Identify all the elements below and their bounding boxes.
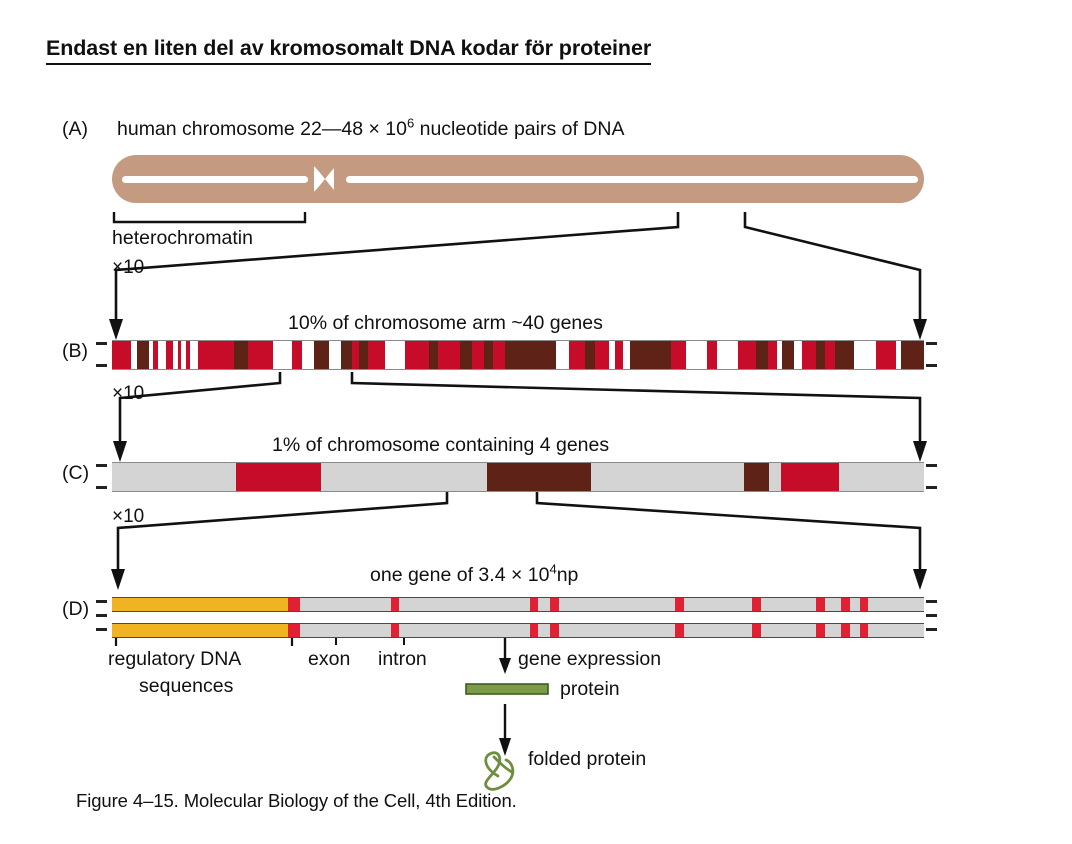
chromatid-split-right [346, 176, 918, 183]
gene-segment [850, 624, 860, 637]
gene-segment [850, 598, 860, 611]
panel-c-title: 1% of chromosome containing 4 genes [272, 434, 609, 456]
gene-segment [675, 598, 684, 611]
gene-block [744, 463, 768, 491]
chromosome-band [707, 341, 717, 369]
panel-b-edge-dash-right-top [926, 342, 937, 345]
chromosome-band [825, 341, 835, 369]
chromosome-band [484, 341, 493, 369]
panel-c-edge-dash-bottom [96, 486, 107, 489]
gene-segment [112, 624, 288, 637]
page-title: Endast en liten del av kromosomalt DNA k… [46, 36, 651, 65]
panel-d-edge-dash-2 [96, 614, 107, 617]
panel-d-letter: (D) [62, 598, 89, 620]
panel-a-title-main: human chromosome 22—48 × 10 [117, 118, 407, 140]
gene-block [321, 463, 487, 491]
panel-d-title: one gene of 3.4 × 104np [370, 564, 578, 586]
chromosome-band [717, 341, 737, 369]
chromosome-band [234, 341, 248, 369]
gene-segment [399, 624, 530, 637]
panel-c-letter: (C) [62, 462, 89, 484]
chromosome-band [405, 341, 429, 369]
chromosome-band [190, 341, 198, 369]
chromosome-band [686, 341, 706, 369]
gene-segment [399, 598, 530, 611]
gene-segment [538, 598, 550, 611]
chromosome-band [341, 341, 352, 369]
chromosome-band [569, 341, 584, 369]
gene-segment [860, 598, 869, 611]
heterochromatin-bracket [114, 212, 305, 222]
gene-segment [816, 598, 825, 611]
chromosome-band [198, 341, 234, 369]
heterochromatin-label: heterochromatin [112, 227, 253, 249]
panel-c-edge-dash-right-top [926, 464, 937, 467]
protein-bar [466, 684, 548, 694]
gene-segment [391, 624, 399, 637]
arrowhead-b-right [913, 319, 927, 340]
gene-segment [860, 624, 869, 637]
chromosome-band [623, 341, 630, 369]
chromosome-band [385, 341, 405, 369]
panel-d-edge-dash-1 [96, 600, 107, 603]
gene-segment [816, 624, 825, 637]
panel-c-edge-dash-right-bottom [926, 486, 937, 489]
gene-segment [752, 598, 761, 611]
gene-segment [300, 624, 391, 637]
gene-segment [559, 624, 676, 637]
folded-protein-icon [486, 753, 513, 790]
chromosome-band [493, 341, 505, 369]
chromosome-band [756, 341, 768, 369]
chromosome-band [615, 341, 624, 369]
panel-c-edge-dash-top [96, 464, 107, 467]
gene-segment [112, 598, 288, 611]
gene-block [236, 463, 321, 491]
gene-block [487, 463, 592, 491]
arrowhead-folding [499, 738, 511, 756]
gene-segment [752, 624, 761, 637]
chromosome-band [112, 341, 131, 369]
gene-segment [391, 598, 399, 611]
chromosome-band [472, 341, 484, 369]
gene-segment [825, 624, 841, 637]
chromosome-band [137, 341, 149, 369]
gene-segment [684, 624, 751, 637]
panel-a-letter: (A) [62, 118, 88, 140]
gene-segment [825, 598, 841, 611]
chromosome-band [794, 341, 803, 369]
chromosome-band [556, 341, 570, 369]
chromosome-band [595, 341, 609, 369]
intron-label: intron [378, 648, 427, 670]
chromosome-band [768, 341, 777, 369]
gene-segment [530, 624, 538, 637]
panel-b-edge-dash-bottom [96, 364, 107, 367]
magnification-label-a: ×10 [112, 257, 144, 279]
chromosome-band [671, 341, 686, 369]
panel-b-edge-dash-top [96, 342, 107, 345]
connector-c-to-d-right [537, 492, 920, 572]
gene-segment [684, 598, 751, 611]
figure-caption: Figure 4–15. Molecular Biology of the Ce… [76, 790, 517, 811]
panel-d-gene-graphic [112, 597, 924, 639]
chromosome-band [359, 341, 368, 369]
magnification-label-c: ×10 [112, 506, 144, 528]
arrowhead-c-right [913, 441, 927, 462]
regulatory-dna-label-line2: sequences [139, 675, 233, 697]
chromosome-band [630, 341, 671, 369]
gene-expression-label: gene expression [518, 648, 661, 670]
panel-d-title-exponent: 4 [549, 562, 556, 577]
gene-block [769, 463, 781, 491]
chromatid-split-left [122, 176, 308, 183]
panel-a-title: human chromosome 22—48 × 106 nucleotide … [117, 118, 624, 140]
gene-segment [868, 624, 923, 637]
chromosome-band [292, 341, 302, 369]
gene-segment [761, 598, 816, 611]
chromosome-band [248, 341, 274, 369]
gene-segment [538, 624, 550, 637]
gene-block [591, 463, 744, 491]
chromosome-band [368, 341, 385, 369]
gene-segment [530, 598, 538, 611]
chromosome-band [438, 341, 460, 369]
chromosome-band [302, 341, 314, 369]
dna-strand-top [112, 597, 924, 612]
regulatory-dna-label-line1: regulatory DNA [108, 648, 241, 670]
gene-segment [559, 598, 676, 611]
figure-panel: (A) human chromosome 22—48 × 106 nucleot… [0, 100, 1072, 844]
gene-block [112, 463, 236, 491]
chromosome-band [352, 341, 360, 369]
chromosome-band [901, 341, 923, 369]
connector-c-to-d-left [118, 492, 447, 572]
gene-segment [761, 624, 816, 637]
centromere [308, 155, 342, 203]
gene-segment [550, 624, 559, 637]
panel-d-edge-dash-r2 [926, 614, 937, 617]
gene-segment [841, 624, 850, 637]
panel-c-gene-bar [112, 462, 924, 492]
folded-protein-label: folded protein [528, 748, 646, 770]
panel-d-edge-dash-r1 [926, 600, 937, 603]
gene-segment [675, 624, 684, 637]
chromosome-band [585, 341, 595, 369]
dna-strand-bottom [112, 623, 924, 638]
gene-block [781, 463, 839, 491]
panel-d-title-tail: np [557, 564, 579, 586]
arrowhead-gene-expression [499, 658, 511, 674]
connector-a-to-b-right [745, 212, 920, 322]
panel-b-edge-dash-right-bottom [926, 364, 937, 367]
chromosome-band [876, 341, 896, 369]
gene-segment [288, 624, 300, 637]
arrowhead-d-right [913, 569, 927, 590]
exon-label: exon [308, 648, 350, 670]
gene-segment [550, 598, 559, 611]
gene-segment [288, 598, 300, 611]
gene-block [839, 463, 924, 491]
chromosome-band [429, 341, 438, 369]
arrowhead-d-left [111, 569, 125, 590]
chromosome-band [816, 341, 825, 369]
chromosome-band [505, 341, 556, 369]
chromosome-band [460, 341, 472, 369]
arrowhead-b-left [109, 319, 123, 340]
panel-d-edge-dash-3 [96, 628, 107, 631]
gene-segment [868, 598, 923, 611]
gene-segment [300, 598, 391, 611]
panel-b-letter: (B) [62, 340, 88, 362]
protein-label: protein [560, 678, 620, 700]
chromosome-graphic [112, 155, 924, 203]
chromosome-band [835, 341, 854, 369]
chromosome-band [273, 341, 292, 369]
panel-b-band-bar [112, 340, 924, 370]
chromosome-band [329, 341, 341, 369]
panel-b-title: 10% of chromosome arm ~40 genes [288, 312, 603, 334]
arrowhead-c-left [113, 441, 127, 462]
panel-d-title-main: one gene of 3.4 × 10 [370, 564, 549, 586]
chromosome-band [158, 341, 166, 369]
chromosome-band [738, 341, 757, 369]
chromosome-band [314, 341, 329, 369]
chromosome-band [782, 341, 794, 369]
panel-d-edge-dash-r3 [926, 628, 937, 631]
chromosome-band [166, 341, 174, 369]
chromosome-band [802, 341, 816, 369]
gene-segment [841, 598, 850, 611]
chromosome-band [854, 341, 876, 369]
panel-a-title-tail: nucleotide pairs of DNA [414, 118, 624, 140]
magnification-label-b: ×10 [112, 383, 144, 405]
